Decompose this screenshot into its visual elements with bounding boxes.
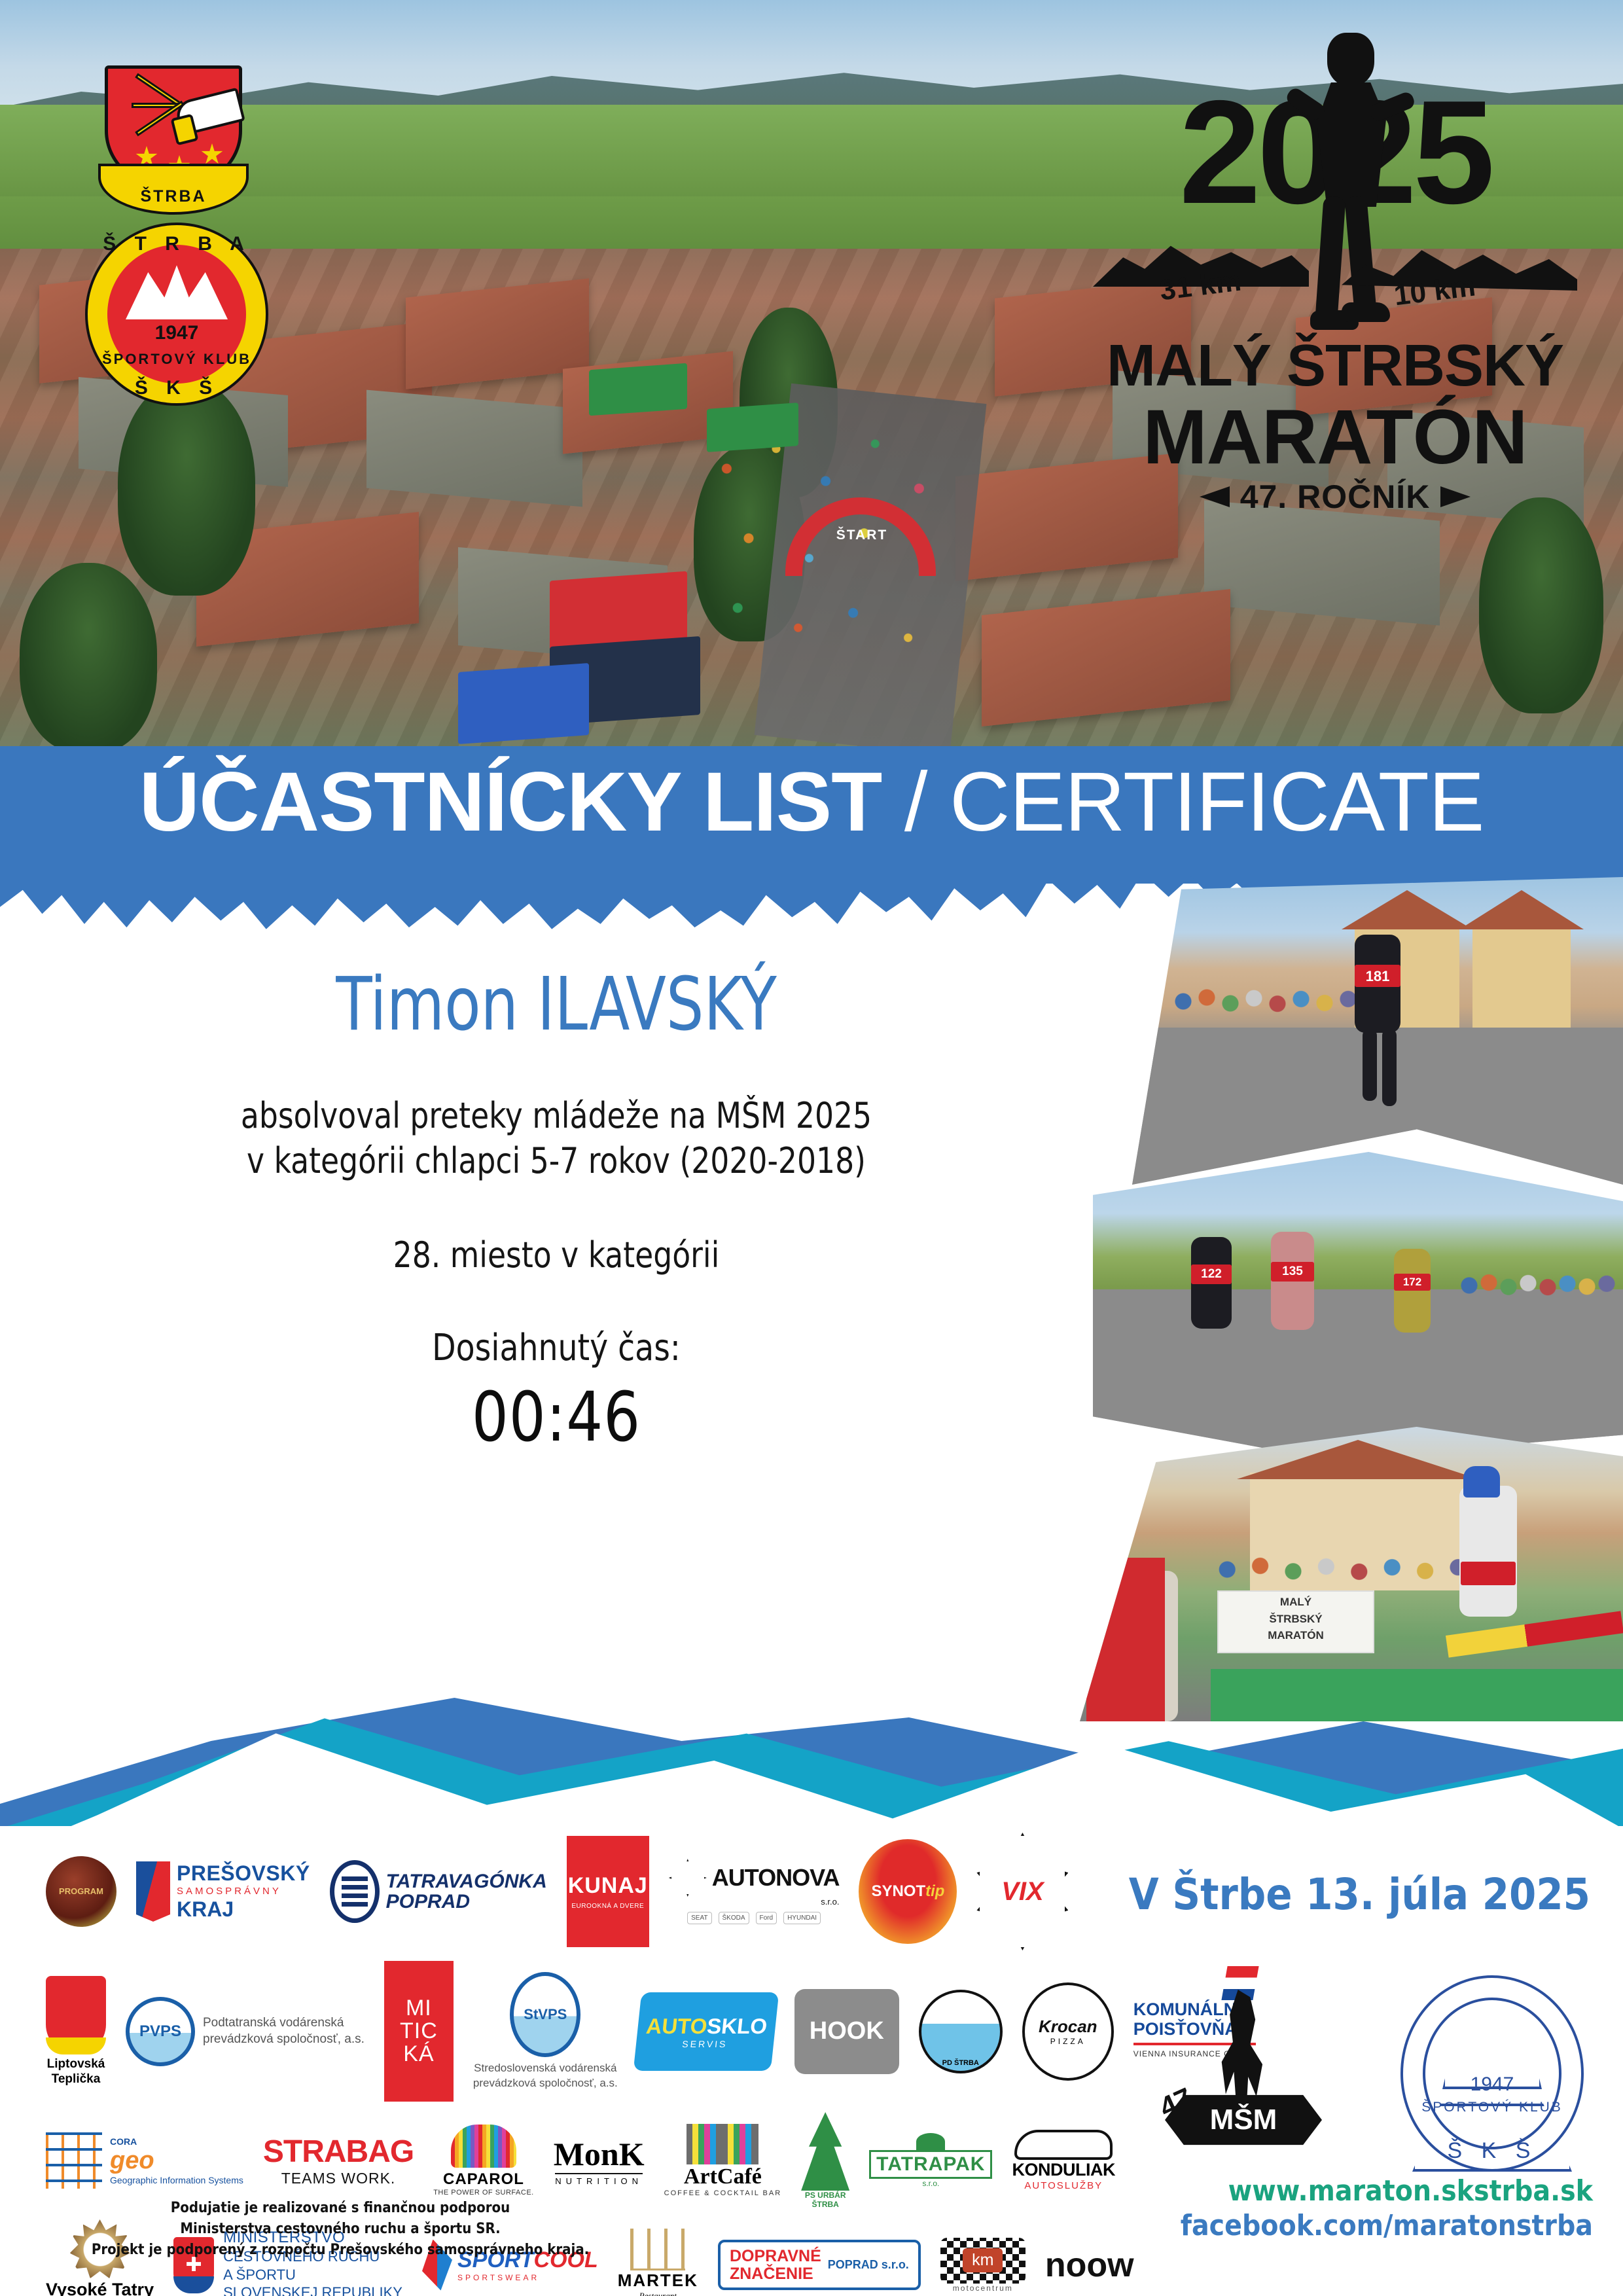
strabag-sub: TEAMS WORK. [281, 2170, 396, 2187]
photo3-event-banner: MALÝ ŠTRBSKÝ MARATÓN [1217, 1590, 1374, 1653]
autonova-burst-icon [669, 1859, 707, 1897]
sponsor-miticka: MI TIC KÁ [384, 1961, 454, 2102]
autonova-brand-skoda: ŠKODA [719, 1912, 749, 1924]
strba-town-crest: ŠTRBA [98, 65, 249, 236]
photo2-bib-c: 172 [1394, 1276, 1431, 1289]
kunaj-label: KUNAJ [568, 1873, 648, 1899]
msm-diamond: MŠM [1165, 2085, 1322, 2155]
funding-note: Podujatie je realizované s finančnou pod… [52, 2198, 628, 2261]
stvps-line1: Stredoslovenská vodárenská [474, 2062, 616, 2074]
club-name-top: Š T R B A [85, 233, 268, 255]
sponsor-caparol: CAPAROL THE POWER OF SURFACE. [433, 2125, 534, 2197]
urbar-l1: PS URBÁR [805, 2191, 846, 2200]
sponsor-presovsky-kraj: PREŠOVSKÝ SAMOSPRÁVNY KRAJ [136, 1861, 310, 1922]
stvps-abbrev: StVPS [510, 1972, 580, 2057]
program-trencin-label: PROGRAM [59, 1887, 103, 1896]
certificate-content: Timon ILAVSKÝ absolvoval preteky mládeže… [0, 962, 1113, 1457]
artcafe-label: ArtCafé [684, 2164, 762, 2189]
photo3-banner-line3: MARATÓN [1219, 1625, 1373, 1642]
autosklo-w1: AUTO [645, 2014, 708, 2038]
sponsor-dopravne-znacenie: DOPRAVNÉ ZNAČENIE POPRAD s.r.o. [718, 2240, 921, 2290]
corageo-w2: geo [110, 2147, 154, 2174]
km-checkered-flag-icon: km [940, 2238, 1026, 2284]
funding-note-line2: Ministerstva cestovného ruchu a športu S… [52, 2219, 628, 2240]
konduliak-label: KONDULIAK [1012, 2160, 1115, 2180]
time-value: 00:46 [33, 1377, 1079, 1457]
crest-town-label: ŠTRBA [98, 187, 249, 206]
pd-strba-label: PD ŠTRBA [919, 1990, 1003, 2073]
noow-label: noow [1045, 2246, 1134, 2285]
photo2-bib-a: 122 [1191, 1267, 1232, 1282]
ministerstvo-l3: A ŠPORTU [223, 2267, 296, 2283]
funding-note-line3: Projekt je podporený z rozpočtu Prešovsk… [52, 2240, 628, 2261]
sponsor-right-column: V Štrbe 13. júla 2025 47. MŠM 1947 ŠPORT… [1139, 1826, 1597, 2296]
triangle-right-icon [1440, 486, 1471, 507]
sponsor-martek-restaurant: MARTEK Restaurant [618, 2229, 698, 2296]
urbar-tree-icon [801, 2112, 849, 2191]
placement-text: 28. miesto v kategórii [33, 1234, 1079, 1276]
photo3-banner-line1: MALÝ [1219, 1592, 1373, 1609]
description-line-2: v kategórii chlapci 5-7 rokov (2020-2018… [33, 1138, 1079, 1183]
sks-club-stamp: 1947 ŠPORTOVÝ KLUB Š K Š [1400, 1975, 1584, 2172]
krocan-label: Krocan [1039, 2017, 1097, 2037]
presovsky-kraj-line3: KRAJ [177, 1897, 234, 1921]
synot-label: SYNOT [871, 1882, 925, 1900]
sponsor-ps-urbar-strba: PS URBÁR ŠTRBA [801, 2112, 849, 2209]
tatravagonka-line2: POPRAD [386, 1892, 547, 1912]
autonova-brand-ford: Ford [756, 1912, 777, 1924]
race-edition: 47. ROČNÍK [1240, 478, 1431, 516]
sponsor-pd-strba: PD ŠTRBA [919, 1990, 1003, 2073]
dopravne-l1: DOPRAVNÉ [730, 2248, 821, 2265]
crest-star-3 [201, 143, 223, 166]
martek-cutlery-icon [630, 2229, 685, 2270]
photo3-banner-line2: ŠTRBSKÝ [1219, 1609, 1373, 1626]
banner-title-light: / CERTIFICATE [882, 755, 1484, 849]
konduliak-sub: AUTOSLUŽBY [1024, 2180, 1103, 2191]
sponsor-autonova: AUTONOVA s.r.o. SEAT ŠKODA Ford HYUNDAI [669, 1859, 840, 1924]
contact-links: www.maraton.skstrba.sk facebook.com/mara… [1181, 2174, 1593, 2244]
sponsor-row-1: PROGRAM PREŠOVSKÝ SAMOSPRÁVNY KRAJ TATRA… [46, 1833, 1152, 1950]
autonova-brand-seat: SEAT [687, 1912, 711, 1924]
pvps-abbrev: PVPS [126, 1997, 195, 2066]
miticka-l2: TIC [400, 2020, 438, 2043]
race-logo: 2025 31 km 10 km MALÝ ŠTRBSKÝ MARATÓN 47… [1086, 26, 1584, 550]
corageo-w1: CORA [110, 2136, 243, 2147]
banner-title-bold: ÚČASTNÍCKY LIST [139, 755, 882, 849]
funding-note-line1: Podujatie je realizované s finančnou pod… [52, 2198, 628, 2219]
miticka-l1: MI [406, 1997, 432, 2020]
corageo-sub: Geographic Information Systems [110, 2175, 243, 2185]
ministerstvo-l4: SLOVENSKEJ REPUBLIKY [223, 2284, 402, 2296]
dopravne-l2: ZNAČENIE [730, 2265, 821, 2282]
presovsky-kraj-line1: PREŠOVSKÝ [177, 1861, 310, 1885]
liptovska-teplicka-line2: Teplička [52, 2072, 101, 2086]
kunaj-sub: EUROOKNÁ A DVERE [571, 1903, 644, 1910]
caparol-elephant-icon [451, 2125, 516, 2168]
autonova-brand-hyundai: HYUNDAI [783, 1912, 821, 1924]
artcafe-sub: COFFEE & COCKTAIL BAR [664, 2189, 782, 2197]
tatrapak-sub: s.r.o. [922, 2179, 939, 2188]
sponsor-strabag: STRABAG TEAMS WORK. [263, 2134, 414, 2187]
krocan-sub: PIZZA [1050, 2037, 1086, 2046]
dopravne-l3: POPRAD s.r.o. [828, 2258, 909, 2272]
race-name-line2: MARATÓN [1086, 393, 1584, 482]
strba-sport-club-crest: Š T R B A 1947 ŠPORTOVÝ KLUB Š K Š [85, 223, 268, 406]
msm-logo: 47. MŠM [1165, 1990, 1322, 2160]
sponsor-pvps: PVPS Podtatranská vodárenská prevádzková… [126, 1997, 365, 2066]
vysoke-tatry-label: Vysoké Tatry [46, 2280, 154, 2296]
sponsor-program-trencin: PROGRAM [46, 1856, 116, 1927]
presovsky-kraj-line2: SAMOSPRÁVNY [177, 1886, 281, 1897]
sponsor-km-motocentrum: km motocentrum [940, 2238, 1026, 2293]
sponsor-corageo: CORAgeo Geographic Information Systems [46, 2132, 243, 2189]
km-sub: motocentrum [953, 2284, 1013, 2293]
caparol-sub: THE POWER OF SURFACE. [433, 2189, 534, 2197]
sponsor-vix: VIX [976, 1833, 1068, 1950]
konduliak-car-icon [1014, 2130, 1113, 2160]
sponsor-section: PROGRAM PREŠOVSKÝ SAMOSPRÁVNY KRAJ TATRA… [0, 1826, 1623, 2296]
sponsor-liptovska-teplicka: Liptovská Teplička [46, 1976, 106, 2087]
km-label: km [963, 2248, 1003, 2272]
liptovska-teplicka-line1: Liptovská [47, 2057, 105, 2071]
sponsor-stvps: StVPS Stredoslovenská vodárenská prevádz… [473, 1972, 618, 2090]
artcafe-bars-icon [687, 2124, 758, 2164]
photo-runners-on-road: 122 135 172 [1093, 1152, 1623, 1460]
start-arch-label: ŠTART [810, 528, 914, 543]
triangle-left-icon [1200, 486, 1230, 507]
tent-green [589, 363, 687, 416]
certificate-page: ŠTART ŠTRBA Š T R B A 1947 ŠPORTOVÝ [0, 0, 1623, 2296]
athlete-name: Timon ILAVSKÝ [56, 962, 1057, 1047]
tatrapak-w2: PAK [943, 2153, 985, 2175]
race-name-line1: MALÝ ŠTRBSKÝ [1086, 332, 1584, 400]
monk-sub: NUTRITION [555, 2173, 643, 2186]
tatravagonka-mark-icon [330, 1860, 380, 1923]
sponsor-row-2: Liptovská Teplička PVPS Podtatranská vod… [46, 1961, 1152, 2102]
hook-label: HOOK [794, 1989, 899, 2074]
club-year: 1947 [85, 322, 268, 344]
description-line-1: absolvoval preteky mládeže na MŠM 2025 [33, 1093, 1079, 1138]
martek-sub: Restaurant [639, 2291, 677, 2296]
tent-green-2 [707, 403, 798, 452]
sponsor-tatravagonka-poprad: TATRAVAGÓNKA POPRAD [330, 1860, 547, 1923]
msm-abbrev: MŠM [1210, 2104, 1277, 2136]
sponsor-synot-tip: SYNOTtip [859, 1839, 957, 1944]
banner-title: ÚČASTNÍCKY LIST / CERTIFICATE [0, 761, 1623, 844]
presovsky-kraj-mark-icon [136, 1861, 170, 1922]
miticka-l3: KÁ [403, 2043, 434, 2066]
strabag-label: STRABAG [263, 2134, 414, 2170]
website-link[interactable]: www.maraton.skstrba.sk [1181, 2174, 1593, 2209]
certificate-description: absolvoval preteky mládeže na MŠM 2025 v… [33, 1093, 1079, 1183]
liptovska-teplicka-shield-icon [46, 1976, 106, 2054]
stamp-abbrev: Š K Š [1448, 2138, 1537, 2169]
autosklo-sub: SERVIS [681, 2039, 728, 2049]
photo1-bib-number: 181 [1355, 968, 1400, 985]
pvps-line2: prevádzková spoločnosť, a.s. [203, 2032, 365, 2046]
sponsor-artcafe: ArtCafé COFFEE & COCKTAIL BAR [664, 2124, 782, 2197]
martek-label: MARTEK [618, 2270, 698, 2291]
autosklo-w2: SKLO [705, 2014, 768, 2038]
runner-silhouette-icon [1296, 33, 1407, 340]
monk-label: MonK [554, 2135, 645, 2173]
urbar-l2: ŠTRBA [811, 2200, 838, 2209]
corageo-grid-icon [46, 2132, 102, 2189]
caparol-label: CAPAROL [443, 2170, 524, 2189]
sponsor-autosklo-servis: AUTOSKLO SERVIS [637, 1992, 775, 2071]
tent-blue [458, 663, 589, 744]
vix-label: VIX [976, 1833, 1068, 1950]
synot-accent: tip [925, 1882, 944, 1900]
photo2-bib-b: 135 [1271, 1265, 1314, 1279]
stamp-year: 1947 [1400, 2073, 1584, 2096]
event-date: V Štrbe 13. júla 2025 [1129, 1869, 1590, 1920]
sponsor-noow: noow [1045, 2246, 1134, 2285]
photo-finish-female-runner: 181 [1132, 877, 1623, 1185]
hero-aerial-photo: ŠTART ŠTRBA Š T R B A 1947 ŠPORTOVÝ [0, 0, 1623, 746]
sponsor-hook: HOOK [794, 1989, 899, 2074]
club-name-bottom: ŠPORTOVÝ KLUB [85, 351, 268, 368]
sponsor-kunaj: KUNAJ EUROOKNÁ A DVERE [567, 1836, 649, 1947]
sponsor-tatrapak: TATRAPAK s.r.o. [869, 2133, 992, 2188]
tatrapak-leaf-icon [916, 2133, 945, 2150]
sportcool-sub: SPORTSWEAR [457, 2273, 598, 2282]
stvps-line2: prevádzková spoločnosť, a.s. [473, 2077, 618, 2089]
sponsor-krocan-pizza: Krocan PIZZA [1022, 1982, 1114, 2081]
club-abbrev: Š K Š [85, 377, 268, 399]
tatravagonka-line1: TATRAVAGÓNKA [386, 1871, 547, 1892]
photo-collage: 181 122 135 172 MALÝ ŠTRBSKÝ MARATÓN [1080, 877, 1623, 1721]
sponsor-row-3: CORAgeo Geographic Information Systems S… [46, 2112, 1152, 2209]
sponsor-monk-nutrition: MonK NUTRITION [554, 2135, 645, 2186]
autonova-label: AUTONOVA [712, 1864, 840, 1892]
sponsor-konduliak: KONDULIAK AUTOSLUŽBY [1012, 2130, 1115, 2191]
time-label: Dosiahnutý čas: [33, 1327, 1079, 1369]
pvps-line1: Podtatranská vodárenská [203, 2016, 344, 2030]
facebook-link[interactable]: facebook.com/maratonstrba [1181, 2209, 1593, 2244]
tatrapak-w1: TATRA [876, 2153, 943, 2175]
autonova-sub: s.r.o. [821, 1897, 839, 1907]
